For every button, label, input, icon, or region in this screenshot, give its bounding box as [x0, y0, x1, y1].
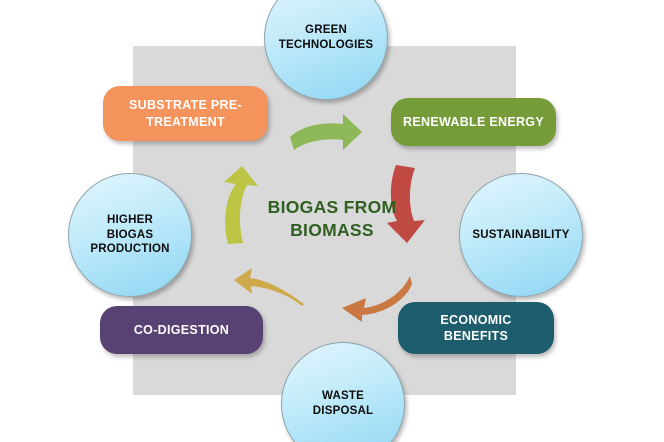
- node-green-technologies-label-line1: GREEN: [305, 24, 347, 36]
- node-co-digestion-label: CO-DIGESTION: [124, 322, 239, 338]
- node-higher-biogas-production-label-line3: PRODUCTION: [90, 243, 169, 255]
- node-renewable-energy-label-line1: RENEWABLE ENERGY: [403, 115, 544, 129]
- node-higher-biogas-production[interactable]: HIGHER BIOGAS PRODUCTION: [68, 173, 192, 297]
- node-higher-biogas-production-label-line1: HIGHER: [107, 214, 153, 226]
- node-waste-disposal-label-line2: DISPOSAL: [313, 405, 373, 417]
- node-higher-biogas-production-label-line2: BIOGAS: [107, 229, 154, 241]
- node-economic-benefits-label-line2: BENEFITS: [444, 329, 508, 343]
- node-green-technologies-label-line2: TECHNOLOGIES: [279, 39, 373, 51]
- node-substrate-pre-treatment-label: SUBSTRATE PRE- TREATMENT: [119, 97, 252, 130]
- diagram-center-title-line1: BIOGAS FROM: [268, 197, 397, 217]
- node-renewable-energy-label: RENEWABLE ENERGY: [393, 114, 554, 130]
- node-green-technologies-label: GREEN TECHNOLOGIES: [271, 23, 381, 52]
- node-waste-disposal-label-line1: WASTE: [322, 390, 364, 402]
- node-higher-biogas-production-label: HIGHER BIOGAS PRODUCTION: [82, 213, 177, 257]
- arrow-green-technologies-to-renewable-energy-icon: [288, 112, 364, 160]
- arrow-waste-disposal-to-co-digestion-icon: [232, 258, 306, 308]
- node-sustainability[interactable]: SUSTAINABILITY: [459, 173, 583, 297]
- diagram-center-title: BIOGAS FROM BIOMASS: [232, 196, 432, 242]
- node-substrate-pre-treatment-label-line2: TREATMENT: [146, 115, 225, 129]
- node-sustainability-label: SUSTAINABILITY: [464, 228, 577, 243]
- node-economic-benefits-label-line1: ECONOMIC: [440, 313, 511, 327]
- node-economic-benefits-label: ECONOMIC BENEFITS: [430, 312, 521, 345]
- diagram-center-title-line2: BIOMASS: [290, 220, 374, 240]
- node-economic-benefits[interactable]: ECONOMIC BENEFITS: [398, 302, 554, 354]
- biogas-from-biomass-cycle-diagram: GREEN TECHNOLOGIES SUSTAINABILITY HIGHER…: [0, 0, 664, 442]
- node-co-digestion[interactable]: CO-DIGESTION: [100, 306, 263, 354]
- node-waste-disposal-label: WASTE DISPOSAL: [305, 389, 381, 418]
- node-co-digestion-label-line1: CO-DIGESTION: [134, 323, 229, 337]
- node-sustainability-label-line1: SUSTAINABILITY: [472, 229, 569, 241]
- node-renewable-energy[interactable]: RENEWABLE ENERGY: [391, 98, 556, 146]
- node-substrate-pre-treatment-label-line1: SUBSTRATE PRE-: [129, 98, 242, 112]
- node-substrate-pre-treatment[interactable]: SUBSTRATE PRE- TREATMENT: [103, 86, 268, 141]
